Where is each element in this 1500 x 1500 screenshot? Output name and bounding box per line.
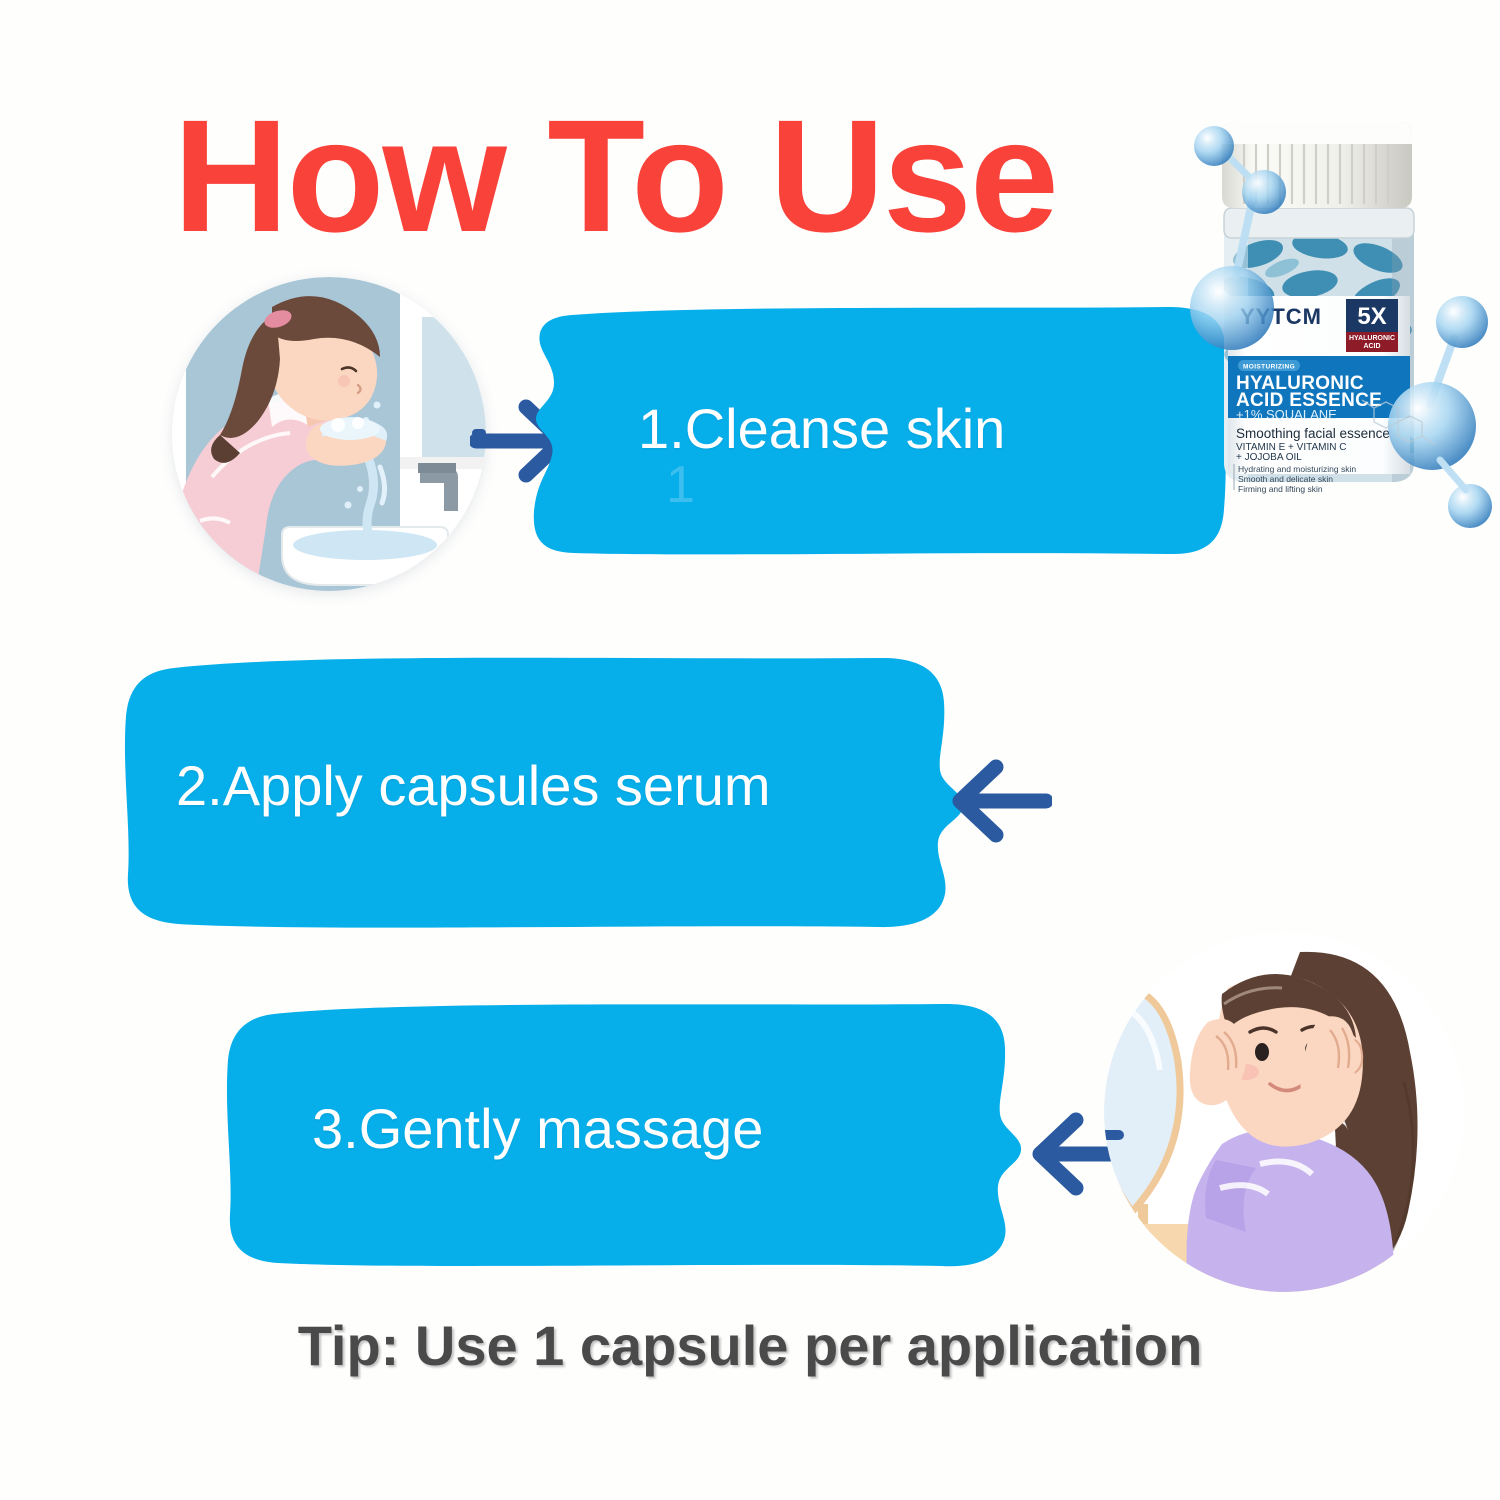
product-squalane: +1% SQUALANE bbox=[1236, 407, 1337, 422]
step-1-ghost-number: 1 bbox=[666, 455, 695, 515]
product-benefit-2: Smooth and delicate skin bbox=[1238, 474, 1333, 484]
product-subtitle: Smoothing facial essence bbox=[1236, 426, 1390, 441]
how-to-use-infographic: How To Use bbox=[0, 0, 1500, 1500]
product-tag: MOISTURIZING bbox=[1243, 364, 1295, 371]
page-title: How To Use bbox=[0, 96, 1230, 256]
step-2-marker-box: 2.Apply capsules serum bbox=[118, 650, 978, 934]
product-ingredients-line2: + JOJOBA OIL bbox=[1236, 452, 1302, 463]
woman-washing-face-icon bbox=[172, 277, 486, 591]
tip-text: Tip: Use 1 capsule per application bbox=[0, 1313, 1500, 1378]
step-3-label: 3.Gently massage bbox=[312, 1096, 763, 1161]
woman-massaging-face-mirror-icon bbox=[1104, 932, 1464, 1292]
product-badge-sub-line1: HYALURONIC bbox=[1349, 335, 1395, 342]
product-badge-multiplier: 5X bbox=[1357, 303, 1386, 330]
step-1-label: 1.Cleanse skin bbox=[638, 396, 1005, 461]
product-benefit-1: Hydrating and moisturizing skin bbox=[1238, 464, 1356, 474]
step-3-marker-box: 3.Gently massage bbox=[222, 998, 1032, 1272]
arrow-left-icon bbox=[940, 752, 1052, 850]
step-2-label: 2.Apply capsules serum bbox=[176, 753, 771, 818]
product-benefit-3: Firming and lifting skin bbox=[1238, 484, 1323, 494]
product-badge-sub-line2: ACID bbox=[1363, 343, 1380, 350]
product-bottle: YYTCM 5X HYALURONIC ACID MOISTURIZING HY… bbox=[1178, 108, 1500, 588]
step-1-marker-box: 1.Cleanse skin 1 bbox=[528, 303, 1228, 560]
